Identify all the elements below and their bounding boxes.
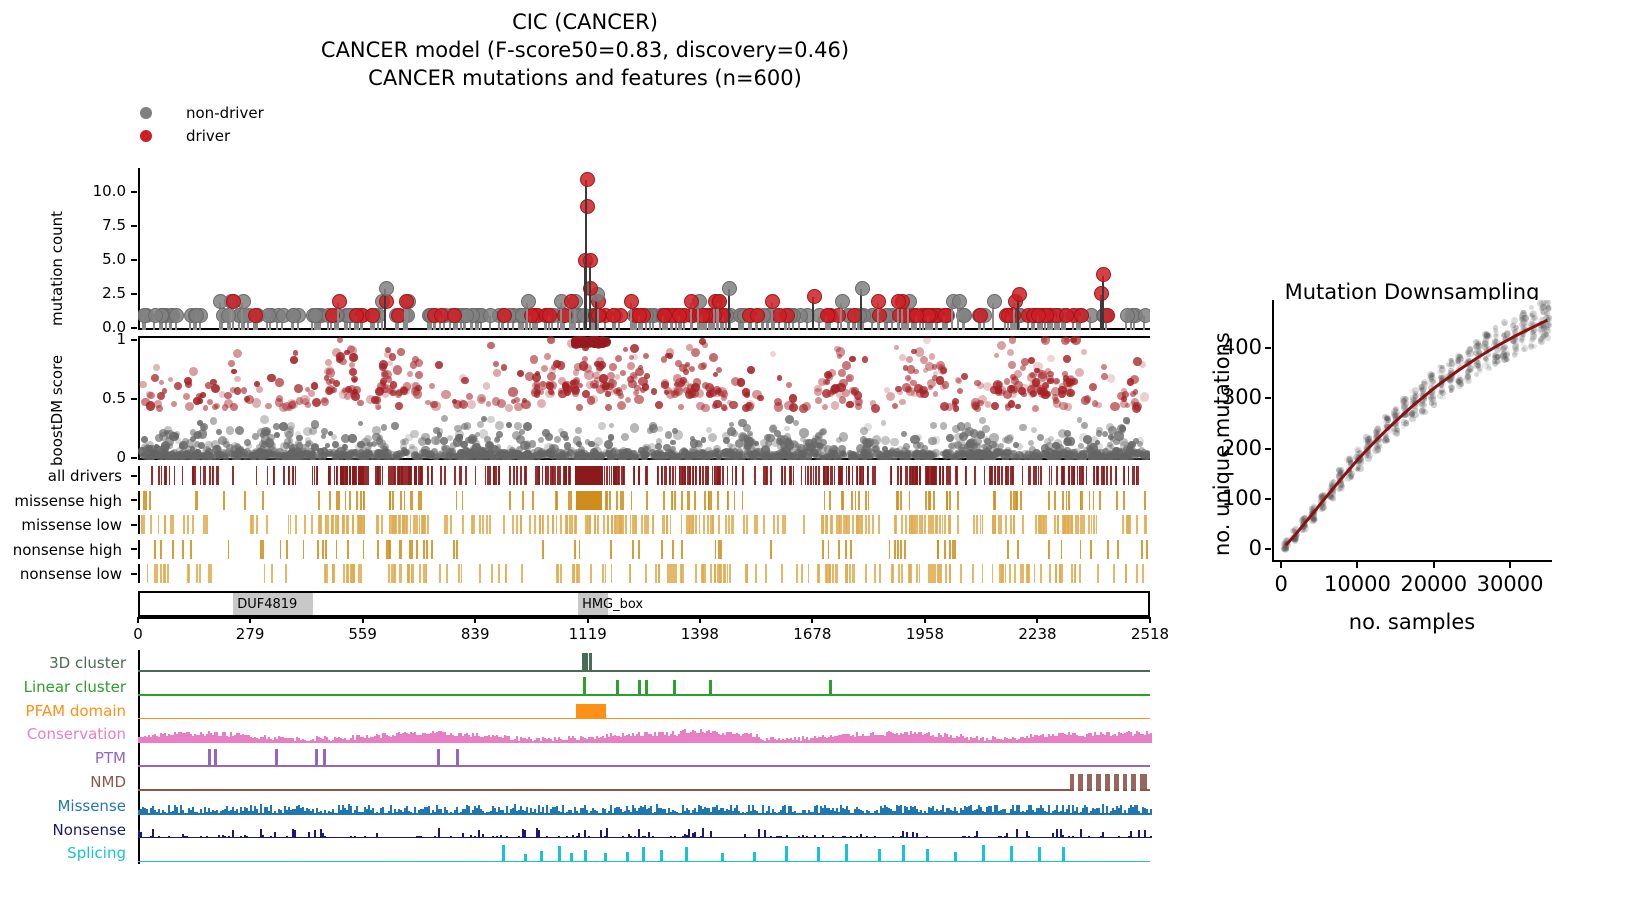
track-mark (818, 466, 820, 485)
score-point (932, 364, 938, 370)
score-point (1107, 442, 1112, 447)
track-mark (328, 466, 330, 485)
score-point (605, 404, 612, 411)
track-mark (340, 466, 342, 485)
track-mark (905, 466, 907, 485)
score-point (929, 353, 936, 360)
needle-head-non-driver (835, 294, 850, 309)
track-mark (824, 491, 826, 510)
track-mark (878, 515, 880, 534)
score-point (721, 395, 727, 401)
track-mark (283, 466, 285, 485)
track-mark (1016, 491, 1018, 510)
track-mark (707, 466, 709, 485)
score-point (1007, 349, 1014, 356)
score-point (430, 401, 438, 409)
needle-head-non-driver (952, 294, 967, 309)
track-mark (392, 491, 394, 510)
needle-head-driver (847, 308, 862, 323)
score-point (183, 393, 190, 400)
track-mark (151, 466, 153, 485)
track-mark (1061, 466, 1063, 485)
track-mark (672, 466, 674, 485)
score-point (906, 356, 913, 363)
score-point (673, 389, 679, 395)
score-point (296, 435, 303, 442)
score-point (579, 361, 588, 370)
score-point (1127, 378, 1134, 385)
track-mark (143, 491, 145, 510)
score-point (1133, 438, 1139, 444)
score-point (982, 425, 990, 433)
score-point (508, 387, 518, 397)
track-mark (700, 466, 702, 485)
needle-head-driver (820, 308, 835, 323)
score-point (1077, 417, 1082, 422)
track-mark (834, 466, 836, 485)
score-point (267, 451, 275, 459)
score-point (814, 388, 823, 397)
score-point (305, 402, 311, 408)
track-mark (165, 466, 167, 485)
track-mark (1040, 466, 1042, 485)
score-point (625, 397, 631, 403)
score-point (321, 398, 329, 406)
track-mark (513, 466, 515, 485)
score-point (256, 386, 263, 393)
score-point (983, 453, 988, 458)
track-mark (353, 466, 355, 485)
score-point (917, 442, 924, 449)
track-mark (547, 466, 549, 485)
track-mark (704, 491, 706, 510)
score-point (755, 450, 763, 458)
score-point (1108, 450, 1113, 455)
track-mark (420, 491, 422, 510)
track-mark (520, 515, 522, 534)
track-mark (793, 466, 795, 485)
score-point (198, 429, 207, 438)
track-mark (1089, 491, 1091, 510)
track-mark (427, 466, 429, 485)
track-mark (694, 491, 696, 510)
score-point (483, 382, 490, 389)
score-point (582, 453, 590, 460)
track-mark (900, 466, 902, 485)
track-mark (909, 491, 911, 510)
score-point (467, 400, 476, 409)
track-mark (910, 466, 912, 485)
score-point (1081, 349, 1087, 355)
track-mark (661, 466, 663, 485)
needle-head-driver (580, 199, 595, 214)
score-point (210, 417, 217, 424)
score-point (477, 421, 483, 427)
track-mark (974, 466, 976, 485)
score-point (742, 388, 750, 396)
score-point (716, 388, 722, 394)
score-point (716, 455, 721, 460)
score-point (905, 375, 911, 381)
track-mark (1012, 466, 1014, 485)
track-tick-mark (131, 524, 137, 526)
score-point (822, 404, 828, 410)
score-point (293, 350, 299, 356)
needle-head-driver (332, 294, 347, 309)
track-mark (631, 491, 633, 510)
track-mark (805, 466, 807, 485)
track-mark (559, 466, 561, 485)
score-point (961, 373, 968, 380)
score-point (290, 356, 298, 364)
score-point (1008, 361, 1016, 369)
track-mark (192, 515, 194, 534)
track-mark (1066, 491, 1068, 510)
track-mark (919, 466, 921, 485)
score-point (834, 455, 840, 460)
score-point (474, 454, 482, 460)
track-mark (663, 491, 665, 510)
track-mark (161, 466, 163, 485)
score-point (487, 416, 494, 423)
track-mark (195, 491, 197, 510)
score-point (892, 403, 898, 409)
track-tick-mark (131, 475, 137, 477)
score-point (793, 420, 799, 426)
track-mark (865, 491, 867, 510)
score-point (661, 381, 668, 388)
track-mark (498, 466, 500, 485)
track-mark (944, 515, 946, 534)
score-point (374, 396, 381, 403)
score-point (911, 349, 916, 354)
track-mark (861, 466, 863, 485)
score-point (1053, 378, 1060, 385)
title-line-2: CANCER model (F-score50=0.83, discovery=… (0, 36, 1170, 64)
score-point (287, 422, 295, 430)
needle-head-driver (248, 308, 263, 323)
score-point (517, 370, 525, 378)
score-point (393, 365, 402, 374)
title-line-1: CIC (CANCER) (0, 8, 1170, 36)
track-mark (318, 491, 320, 510)
score-point (260, 415, 269, 424)
score-point (274, 432, 280, 438)
track-mark (409, 466, 411, 485)
track-mark (557, 466, 559, 485)
track-mark (495, 466, 497, 485)
track-mark (149, 491, 151, 510)
score-point (311, 382, 318, 389)
track-mark (622, 466, 624, 485)
score-point (358, 421, 363, 426)
score-point (588, 441, 594, 447)
track-mark (394, 466, 396, 485)
score-point (487, 342, 494, 349)
score-point (621, 384, 627, 390)
track-mark (1048, 491, 1050, 510)
track-mark (933, 491, 935, 510)
track-mark (909, 515, 911, 534)
track-mark (1110, 466, 1112, 485)
track-mark (1054, 515, 1056, 534)
score-point (153, 364, 160, 371)
score-point (1031, 427, 1037, 433)
score-point (855, 398, 863, 406)
score-point (881, 420, 886, 425)
track-mark (589, 515, 591, 534)
score-point (454, 425, 461, 432)
track-mark (539, 466, 541, 485)
score-point (346, 453, 352, 459)
track-mark (512, 515, 514, 534)
score-point (1107, 374, 1116, 383)
score-point (894, 345, 899, 350)
score-point (649, 422, 657, 430)
score-point (241, 387, 248, 394)
track-mark (868, 515, 870, 534)
score-point (146, 401, 155, 410)
score-point (1078, 443, 1084, 449)
track-mark (874, 466, 876, 485)
boostdm-score-plot (138, 336, 1150, 460)
needle-head-non-driver (987, 294, 1002, 309)
track-mark (848, 515, 850, 534)
track-mark (858, 491, 860, 510)
track-mark (295, 466, 297, 485)
score-point (923, 336, 931, 344)
track-mark (1035, 515, 1037, 534)
score-point (1113, 450, 1118, 455)
score-point (1037, 434, 1044, 441)
score-point (326, 385, 335, 394)
track-mark (1082, 515, 1084, 534)
track-mark (689, 491, 691, 510)
score-point (1002, 437, 1009, 444)
needle-plot (138, 168, 1150, 330)
score-point (437, 428, 444, 435)
score-point (493, 369, 501, 377)
track-mark (1005, 466, 1007, 485)
score-point (185, 402, 194, 411)
axis-spine-top (138, 336, 1150, 338)
score-point (413, 389, 422, 398)
track-mark (415, 515, 417, 534)
score-point (564, 451, 570, 457)
track-mark (675, 466, 677, 485)
score-point (412, 356, 419, 363)
track-mark (984, 466, 986, 485)
score-point (519, 429, 525, 435)
track-mark (1051, 466, 1053, 485)
score-point (1032, 405, 1039, 412)
score-point (820, 452, 825, 457)
score-point (151, 374, 159, 382)
score-point (1142, 451, 1149, 458)
legend-marker-driver (140, 130, 152, 142)
legend-item-driver: driver (140, 124, 264, 147)
score-point (486, 401, 491, 406)
score-point (642, 383, 650, 391)
score-point (1000, 451, 1008, 459)
score-point (256, 449, 264, 457)
score-point (216, 429, 222, 435)
track-mark (462, 491, 464, 510)
score-point (1066, 378, 1075, 387)
track-mark (840, 466, 842, 485)
score-point (234, 387, 241, 394)
score-point (838, 369, 846, 377)
score-point (252, 398, 261, 407)
score-point (1101, 373, 1108, 380)
score-point (326, 379, 332, 385)
track-mark (232, 466, 234, 485)
track-mark (356, 491, 358, 510)
score-point (693, 378, 702, 387)
score-point (539, 453, 544, 458)
track-mark (790, 466, 792, 485)
track-mark (1002, 466, 1004, 485)
track-mark (681, 515, 683, 534)
track-mark (411, 491, 413, 510)
track-mark (1045, 515, 1047, 534)
score-point (466, 393, 473, 400)
score-point (530, 355, 539, 364)
track-mark (1107, 466, 1109, 485)
track-mark (900, 491, 902, 510)
track-mark (317, 466, 319, 485)
score-point (435, 361, 444, 370)
score-point (770, 351, 776, 357)
track-mark (926, 466, 928, 485)
track-mark (982, 515, 984, 534)
score-point (558, 390, 567, 399)
score-point (621, 433, 629, 441)
track-mark (734, 491, 736, 510)
track-mark (813, 466, 815, 485)
track-mark (288, 466, 290, 485)
score-point (846, 374, 854, 382)
track-mark (868, 491, 870, 510)
score-point (1110, 402, 1119, 411)
score-point (686, 344, 693, 351)
track-mark (718, 515, 720, 534)
track-row (138, 491, 1150, 510)
score-point (415, 371, 423, 379)
track-mark (857, 466, 859, 485)
score-point (1092, 400, 1098, 406)
score-point (729, 422, 734, 427)
needle-head-driver (973, 308, 988, 323)
score-point (275, 378, 284, 387)
score-point (156, 405, 163, 412)
track-mark (338, 491, 340, 510)
score-point (729, 401, 738, 410)
track-mark (1054, 491, 1056, 510)
track-mark (746, 515, 748, 534)
score-point (977, 382, 984, 389)
score-point (732, 454, 738, 460)
track-mark (1128, 466, 1130, 485)
track-mark (378, 466, 380, 485)
score-point (709, 353, 718, 362)
needle-head-non-driver (1138, 308, 1150, 323)
score-point (397, 348, 405, 356)
track-mark (646, 491, 648, 510)
track-mark (720, 466, 722, 485)
score-point (1018, 387, 1026, 395)
score-point (197, 398, 203, 404)
score-point (587, 396, 595, 404)
needle-head-driver (447, 308, 462, 323)
score-point (643, 353, 649, 359)
score-point (211, 440, 220, 449)
track-mark (440, 466, 442, 485)
score-point (878, 451, 884, 457)
track-mark (1093, 491, 1095, 510)
score-point (1027, 389, 1033, 395)
score-point (547, 336, 555, 344)
score-point (168, 377, 173, 382)
score-point (410, 430, 419, 439)
track-row (138, 515, 1150, 534)
track-mark (325, 515, 327, 534)
track-mark (1082, 466, 1084, 485)
track-mark (770, 466, 772, 485)
track-mark (489, 466, 491, 485)
track-mark (990, 466, 992, 485)
track-mark (616, 491, 618, 510)
needle-head-non-driver (169, 308, 184, 323)
score-point (619, 449, 627, 457)
track-mark (363, 491, 365, 510)
score-point (706, 427, 712, 433)
score-point (690, 439, 698, 447)
track-mark (867, 466, 869, 485)
score-point (1087, 453, 1093, 459)
track-mark (361, 466, 363, 485)
score-point (147, 392, 155, 400)
track-mark (509, 491, 511, 510)
track-mark (475, 466, 477, 485)
track-mark (843, 515, 845, 534)
track-mark (1022, 466, 1024, 485)
score-point (668, 449, 675, 456)
track-mark (205, 466, 207, 485)
score-point (651, 388, 657, 394)
score-point (574, 338, 584, 348)
score-point (598, 361, 606, 369)
score-point (534, 384, 541, 391)
score-point (609, 363, 617, 371)
track-mark (485, 466, 487, 485)
score-point (333, 380, 340, 387)
score-point (658, 452, 666, 460)
track-mark (392, 466, 394, 485)
score-point (701, 404, 709, 412)
track-mark (158, 515, 160, 534)
track-mark (781, 466, 783, 485)
score-point (154, 453, 159, 458)
score-point (688, 455, 693, 460)
score-point (849, 356, 856, 363)
score-point (348, 434, 356, 442)
track-mark (489, 515, 491, 534)
score-point (497, 399, 506, 408)
score-point (744, 441, 753, 450)
track-mark (687, 466, 689, 485)
track-label-all-drivers: all drivers (0, 467, 122, 485)
